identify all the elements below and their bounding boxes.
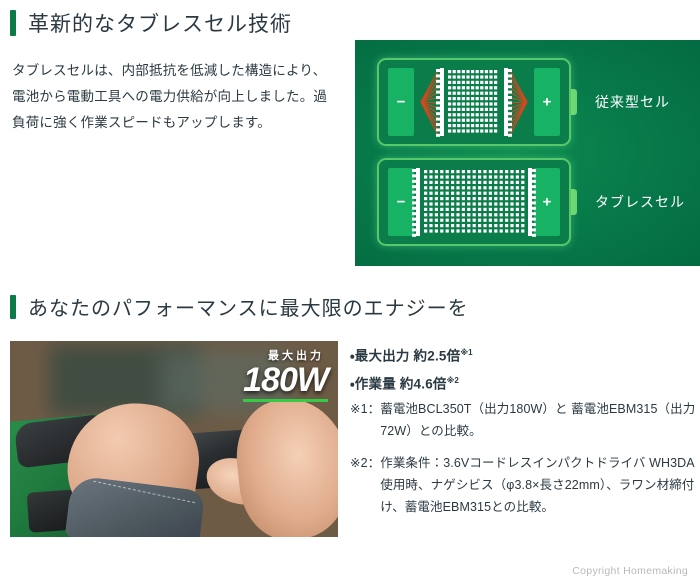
cell-label-conventional: 従来型セル [595,92,670,112]
bullet-note-ref: ※1 [460,348,472,357]
bullet-item: ・最大出力 約2.5倍※1 [350,341,694,369]
battery-terminal-nub [570,189,577,215]
section-heading-tabless: 革新的なタブレスセル技術 [10,8,292,38]
heading-text: 革新的なタブレスセル技術 [28,8,292,38]
cell-label-tabless: タブレスセル [595,192,685,212]
footnote-tag: ※1： [350,398,380,442]
heading-accent-bar [10,10,16,36]
max-output-badge: 最大出力 180W [243,347,328,402]
cell-diagram-panel: − + 従来型セル − + [355,40,700,266]
conventional-cell-internals [379,60,569,144]
footnote-item: ※1： 蓄電池BCL350T（出力180W）と 蓄電池EBM315（出力72W）… [350,398,698,442]
badge-underline [243,399,328,402]
bullet-text: ・最大出力 約2.5倍 [350,349,460,364]
footnote-body: 蓄電池BCL350T（出力180W）と 蓄電池EBM315（出力72W）との比較… [380,398,698,442]
performance-bullet-list: ・最大出力 約2.5倍※1 ・作業量 約4.6倍※2 [350,341,694,396]
battery-terminal-nub [570,89,577,115]
footnote-list: ※1： 蓄電池BCL350T（出力180W）と 蓄電池EBM315（出力72W）… [350,398,698,528]
diagram-row-tabless: − + タブレスセル [377,158,685,246]
product-photo: 最大出力 180W [10,341,338,537]
bullet-item: ・作業量 約4.6倍※2 [350,369,694,397]
tabless-cell-internals [379,160,569,244]
intro-paragraph: タブレスセルは、内部抵抗を低減した構造により、電池から電動工具への電力供給が向上… [12,58,332,136]
battery-tabless: − + [377,158,571,246]
bullet-text: ・作業量 約4.6倍 [350,376,447,391]
heading-text: あなたのパフォーマンスに最大限のエナジーを [28,292,469,321]
section-heading-performance: あなたのパフォーマンスに最大限のエナジーを [10,292,469,321]
heading-accent-bar [10,295,16,319]
footnote-tag: ※2： [350,452,380,518]
footnote-body: 作業条件：3.6Vコードレスインパクトドライバ WH3DA使用時、ナゲシビス（φ… [380,452,698,518]
footer-copyright: Copyright Homemaking [572,565,688,577]
bullet-note-ref: ※2 [447,376,459,385]
battery-conventional: − + [377,58,571,146]
diagram-row-conventional: − + 従来型セル [377,58,670,146]
footnote-item: ※2： 作業条件：3.6Vコードレスインパクトドライバ WH3DA使用時、ナゲシ… [350,452,698,518]
badge-value: 180W [243,364,328,396]
